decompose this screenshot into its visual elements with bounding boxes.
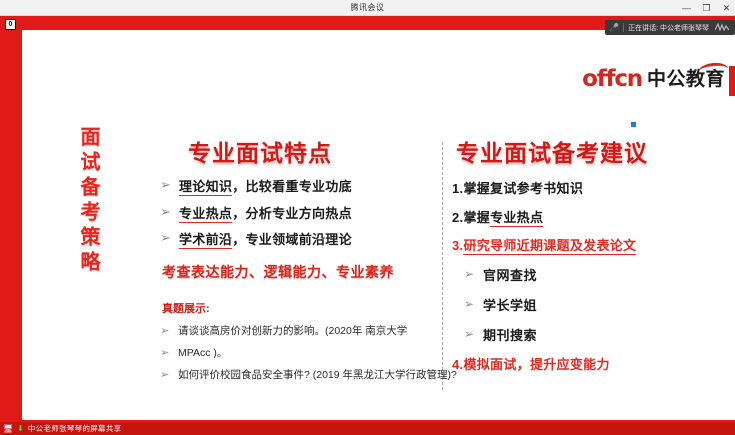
right-subitem-1-text: 官网查找 <box>483 265 537 284</box>
right-item-4: 4.模拟面试，提升应变能力 <box>452 357 722 373</box>
microphone-icon: 🎤 <box>609 24 619 32</box>
arrow-bullet-icon: ➢ <box>464 297 474 311</box>
right-item-3: 3.研究导师近期课题及发表论文 <box>452 238 722 254</box>
share-badge-icon: 0 <box>5 19 16 30</box>
right-item-1-text: 掌握复试参考书知识 <box>463 181 583 196</box>
audio-wave-icon <box>715 22 729 33</box>
right-item-2: 2.掌握专业热点 <box>452 210 722 226</box>
left-bullet-2-text: 专业热点，分析专业方向热点 <box>179 206 352 222</box>
screen-share-frame: 0 🎤 正在讲话: 中公老师张琴琴 offcn 中公教育 <box>0 16 735 435</box>
example-1-text: 请谈谈高房价对创新力的影响。(2020年 南京大学 <box>178 325 407 338</box>
monitor-icon: 🖥 <box>3 425 13 433</box>
right-item-2-num: 2. <box>452 210 463 225</box>
example-2-text: MPAcc )。 <box>178 347 227 360</box>
left-bullet-1-keyword: 理论知识 <box>179 179 232 196</box>
right-column: 专业面试备考建议 1.掌握复试参考书知识 2.掌握专业热点 3.研究导师近期课题… <box>452 134 722 372</box>
left-bullet-3: ➢ 学术前沿，专业领域前沿理论 <box>160 232 445 248</box>
right-subitem-2-text: 学长学姐 <box>483 295 537 314</box>
right-item-1-num: 1. <box>452 181 463 196</box>
example-row-3: ➢ 如何评价校园食品安全事件? (2019 年黑龙江大学行政管理)? <box>160 369 445 382</box>
arrow-bullet-icon: ➢ <box>464 327 474 341</box>
download-arrow-icon: ⬇ <box>17 425 24 433</box>
right-subitem-1: ➢ 官网查找 <box>464 265 722 284</box>
restore-button[interactable]: ❐ <box>701 4 712 13</box>
arrow-bullet-icon: ➢ <box>160 232 170 247</box>
example-3-text: 如何评价校园食品安全事件? (2019 年黑龙江大学行政管理)? <box>178 369 457 382</box>
left-bullet-3-keyword: 学术前沿 <box>179 232 232 249</box>
speaking-label: 正在讲话: 中公老师张琴琴 <box>628 23 709 33</box>
minimize-button[interactable]: — <box>681 4 692 13</box>
vertical-slide-title: 面试备考策略 <box>77 126 98 276</box>
window-title: 腾讯会议 <box>351 2 385 13</box>
left-highlight-line: 考查表达能力、逻辑能力、专业素养 <box>162 262 445 282</box>
arrow-bullet-icon: ➢ <box>464 267 474 281</box>
window-controls: — ❐ ✕ <box>681 0 732 16</box>
arrow-bullet-icon: ➢ <box>160 206 170 221</box>
share-status-label: 中公老师张琴琴的屏幕共享 <box>28 423 122 434</box>
arrow-bullet-icon: ➢ <box>160 179 170 194</box>
right-item-2-text: 掌握 <box>463 210 490 225</box>
left-bullet-3-text: 学术前沿，专业领域前沿理论 <box>179 232 352 248</box>
pointer-dot-icon <box>630 121 637 128</box>
logo-latin-text: offcn <box>582 68 642 91</box>
speaking-indicator[interactable]: 🎤 正在讲话: 中公老师张琴琴 <box>605 20 735 35</box>
toast-divider <box>623 23 624 32</box>
left-bullet-1-text: 理论知识，比较看重专业功底 <box>179 179 352 195</box>
right-item-1: 1.掌握复试参考书知识 <box>452 181 722 197</box>
close-button[interactable]: ✕ <box>721 4 732 13</box>
logo-chinese-text: 中公教育 <box>647 70 725 89</box>
audio-wave-svg <box>715 22 729 31</box>
window-titlebar: 腾讯会议 — ❐ ✕ <box>0 0 735 16</box>
right-item-3-keyword: 研究导师近期课题及发表论文 <box>463 238 636 255</box>
share-status-bar[interactable]: 🖥 ⬇ 中公老师张琴琴的屏幕共享 <box>0 422 735 435</box>
presentation-slide: offcn 中公教育 面试备考策略 专业面试特点 ➢ 理论知识，比较看重专业功底… <box>22 30 735 420</box>
left-bullet-3-rest: ，专业领域前沿理论 <box>232 232 352 247</box>
example-row-2: ➢ MPAcc )。 <box>160 347 445 360</box>
left-bullet-2-keyword: 专业热点 <box>179 206 232 223</box>
left-bullet-1-rest: ，比较看重专业功底 <box>232 179 352 194</box>
right-subitem-2: ➢ 学长学姐 <box>464 295 722 314</box>
left-column-title: 专业面试特点 <box>188 134 445 168</box>
right-column-title: 专业面试备考建议 <box>456 134 722 168</box>
logo-red-accent-bar <box>729 66 735 96</box>
arrow-bullet-icon: ➢ <box>160 369 169 382</box>
right-subitem-3-text: 期刊搜索 <box>483 325 537 344</box>
right-item-3-num: 3. <box>452 238 463 253</box>
left-bullet-2-rest: ，分析专业方向热点 <box>232 206 352 221</box>
right-item-2-keyword: 专业热点 <box>490 210 543 227</box>
left-column: 专业面试特点 ➢ 理论知识，比较看重专业功底 ➢ 专业热点，分析专业方向热点 ➢… <box>160 134 445 382</box>
left-bullet-1: ➢ 理论知识，比较看重专业功底 <box>160 179 445 195</box>
arrow-bullet-icon: ➢ <box>160 325 169 338</box>
left-bullet-2: ➢ 专业热点，分析专业方向热点 <box>160 206 445 222</box>
examples-heading: 真题展示: <box>162 300 445 316</box>
example-row-1: ➢ 请谈谈高房价对创新力的影响。(2020年 南京大学 <box>160 325 445 338</box>
offcn-logo: offcn 中公教育 <box>582 68 725 91</box>
right-subitem-3: ➢ 期刊搜索 <box>464 325 722 344</box>
tencent-meeting-window: 腾讯会议 — ❐ ✕ 0 🎤 正在讲话: 中公老师张琴琴 offcn <box>0 0 735 435</box>
arrow-bullet-icon: ➢ <box>160 347 169 360</box>
right-item-4-num: 4. <box>452 357 463 372</box>
right-item-4-text: 模拟面试，提升应变能力 <box>463 357 609 372</box>
